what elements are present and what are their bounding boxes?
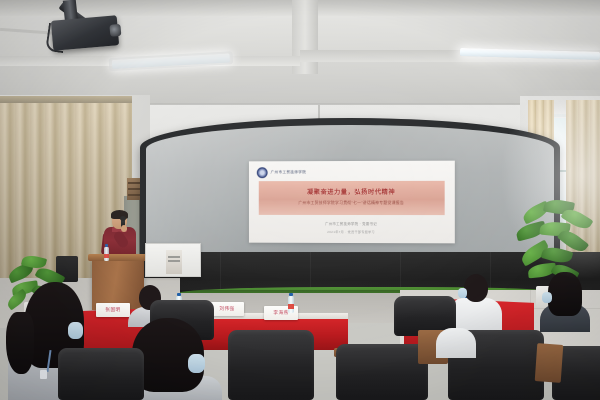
slide-title: 凝聚奋进力量，弘扬时代精神 xyxy=(259,187,445,196)
audience-person xyxy=(540,272,590,332)
slide-footer-line-1: 广州市工贸技师学院 · 党委书记 xyxy=(249,221,455,226)
seat-writing-tablet xyxy=(535,343,564,383)
photo-scene: 广州市工贸技师学院 凝聚奋进力量，弘扬时代精神 广州市工贸技师学院学习贯彻"七一… xyxy=(0,0,600,400)
water-bottle xyxy=(288,296,294,313)
podium-top xyxy=(88,254,148,261)
placard-name: 李海燕 xyxy=(273,310,288,316)
university-seal-icon xyxy=(257,167,268,178)
name-placard: 刘伟强 xyxy=(210,302,244,316)
podium-water-bottle xyxy=(104,247,109,261)
curtain-rod-left xyxy=(0,96,132,103)
auditorium-seat[interactable] xyxy=(336,344,428,400)
board-poster xyxy=(166,250,182,274)
projector-icon xyxy=(51,15,119,51)
placard-name: 刘伟强 xyxy=(219,306,234,312)
slide-title-band: 凝聚奋进力量，弘扬时代精神 广州市工贸技师学院学习贯彻"七一"讲话精神专题党课报… xyxy=(259,181,445,215)
placard-name: 张国明 xyxy=(105,307,120,313)
auditorium-seat[interactable] xyxy=(228,330,314,400)
slide-subtitle: 广州市工贸技师学院学习贯彻"七一"讲话精神专题党课报告 xyxy=(259,201,445,206)
slide-organization: 广州市工贸技师学院 xyxy=(271,170,307,175)
slide-logo: 广州市工贸技师学院 xyxy=(257,167,306,178)
speaker-hand xyxy=(121,225,127,232)
projector-lens xyxy=(109,24,121,37)
projected-slide: 广州市工贸技师学院 凝聚奋进力量，弘扬时代精神 广州市工贸技师学院学习贯彻"七一… xyxy=(249,161,455,244)
microphone-head xyxy=(120,216,126,221)
white-display-board xyxy=(145,243,201,277)
audience-person xyxy=(436,318,476,358)
slide-footer-line-2: 2021年7月 · 党员干部专题学习 xyxy=(249,229,455,235)
auditorium-seat[interactable] xyxy=(58,348,144,400)
